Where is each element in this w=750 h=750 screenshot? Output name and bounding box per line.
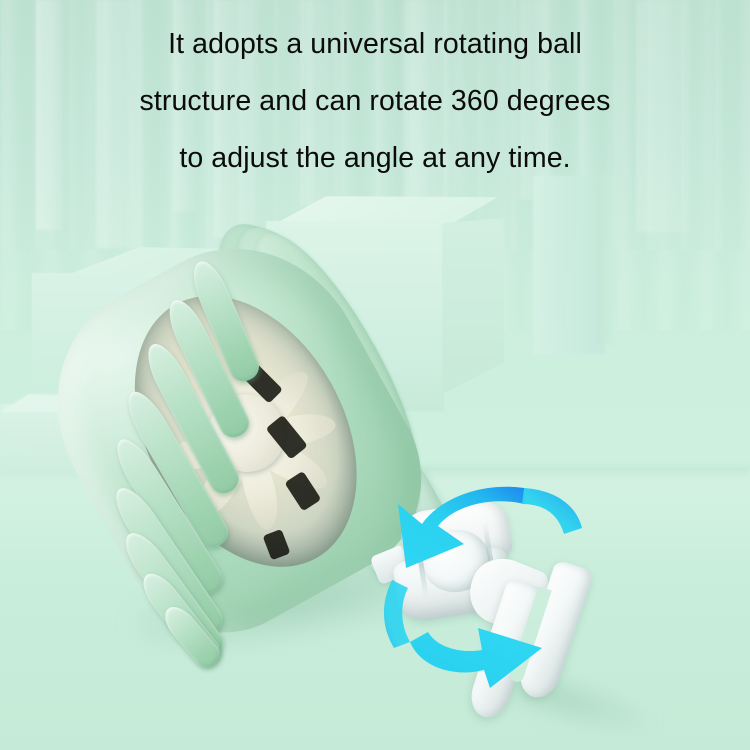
- rotation-arrows: [378, 452, 678, 702]
- product-feature-image: It adopts a universal rotating ball stru…: [0, 0, 750, 750]
- caption-line-3: to adjust the angle at any time.: [0, 130, 750, 187]
- grille-dark-gap: [263, 529, 291, 560]
- rotation-arrow-bottom: [378, 452, 678, 702]
- rotation-arrow-bottom-tail: [384, 580, 410, 648]
- rotation-arrow-bottom-path: [410, 628, 542, 688]
- caption-line-1: It adopts a universal rotating ball: [0, 16, 750, 73]
- caption-line-2: structure and can rotate 360 degrees: [0, 73, 750, 130]
- caption-block: It adopts a universal rotating ball stru…: [0, 16, 750, 187]
